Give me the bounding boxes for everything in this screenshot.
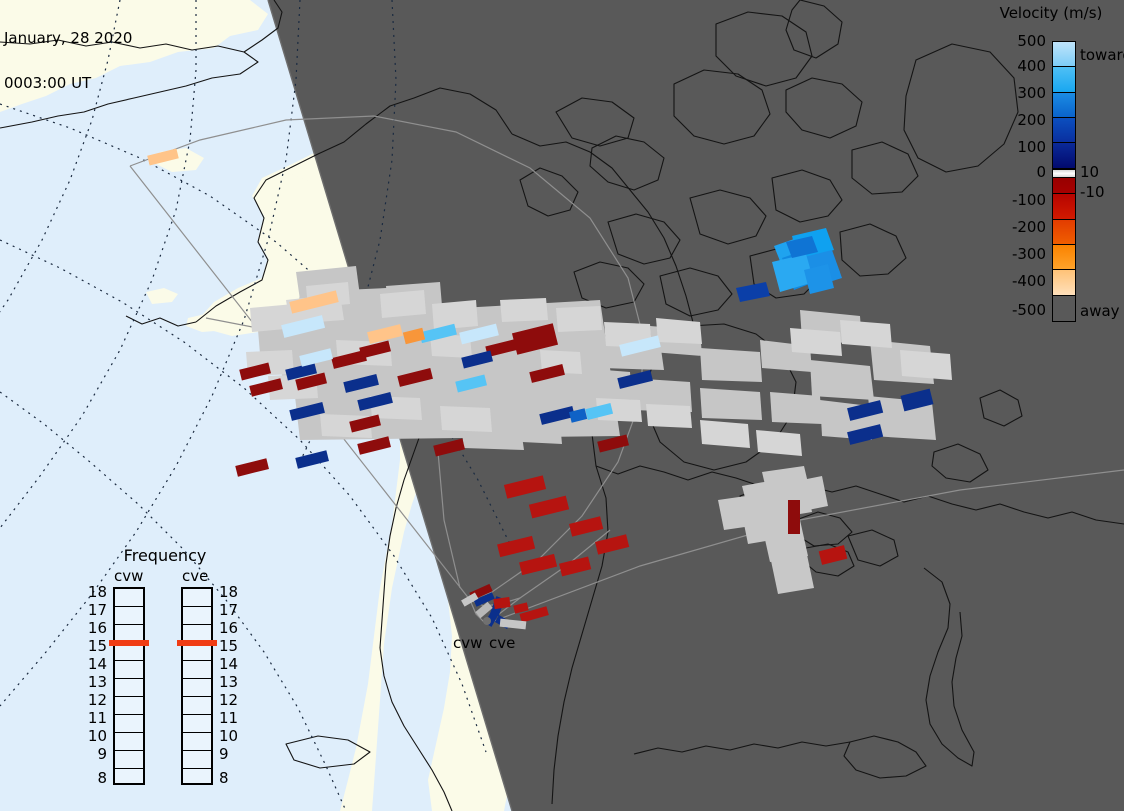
freq-tick-left-10: 10 (87, 727, 107, 745)
freq-tick-left-18: 18 (87, 583, 107, 601)
colorbar-band-200-300 (1053, 93, 1075, 118)
freq-cell (183, 751, 211, 769)
freq-cell (115, 607, 143, 625)
freq-tick-right-16: 16 (219, 619, 238, 637)
colorbar-tick-300: 300 (1017, 84, 1046, 102)
timestamp: January, 28 2020 0003:00 UT (4, 1, 132, 121)
colorbar-title: Velocity (m/s) (978, 4, 1124, 22)
freq-tick-right-8: 8 (219, 769, 229, 787)
colorbar-zero-band (1053, 169, 1075, 178)
colorbar-tick-400: 400 (1017, 57, 1046, 75)
freq-tick-right-10: 10 (219, 727, 238, 745)
freq-tick-left-16: 16 (87, 619, 107, 637)
freq-cell (115, 751, 143, 769)
frequency-bar-cve (181, 587, 213, 785)
frequency-bar-cvw (113, 587, 145, 785)
freq-tick-left-11: 11 (87, 709, 107, 727)
freq-cell (115, 679, 143, 697)
colorbar-label-toward: toward (1080, 46, 1124, 64)
colorbar-tick-500: 500 (1017, 32, 1046, 50)
colorbar-tick-neg200: -200 (1012, 218, 1046, 236)
station-label-cve: cve (489, 634, 515, 652)
colorbar-band-400-500 (1053, 42, 1075, 67)
freq-cell (115, 589, 143, 607)
hudson-bay-velocity-patch (736, 228, 842, 302)
freq-cell (115, 715, 143, 733)
colorbar-band-neg400-neg500 (1053, 270, 1075, 295)
freq-cell (183, 715, 211, 733)
colorbar-band-10-100 (1053, 143, 1075, 168)
freq-tick-right-9: 9 (219, 745, 229, 763)
colorbar-label-pos10: 10 (1080, 163, 1099, 181)
frequency-marker-cve (177, 640, 217, 646)
colorbar-tick-200: 200 (1017, 111, 1046, 129)
colorbar-tick-neg500: -500 (1012, 301, 1046, 319)
freq-tick-right-15: 15 (219, 637, 238, 655)
colorbar-tick-0: 0 (1036, 163, 1046, 181)
frequency-column-label-cve: cve (182, 567, 208, 585)
freq-cell (115, 733, 143, 751)
station-label-cvw: cvw (453, 634, 482, 652)
timestamp-date: January, 28 2020 (4, 31, 132, 46)
freq-tick-right-12: 12 (219, 691, 238, 709)
colorbar-tick-neg400: -400 (1012, 272, 1046, 290)
freq-tick-left-13: 13 (87, 673, 107, 691)
freq-cell (183, 697, 211, 715)
colorbar-band-neg200-neg300 (1053, 220, 1075, 245)
colorbar-band-neg100-neg200 (1053, 194, 1075, 219)
radar-map-canvas: January, 28 2020 0003:00 UT Velocity (m/… (0, 0, 1124, 811)
colorbar-tick-neg300: -300 (1012, 245, 1046, 263)
colorbar-gradient (1052, 41, 1076, 322)
timestamp-time: 0003:00 UT (4, 76, 132, 91)
freq-cell (183, 589, 211, 607)
freq-tick-left-8: 8 (87, 769, 107, 787)
colorbar-tick-100: 100 (1017, 138, 1046, 156)
colorbar-band-300-400 (1053, 67, 1075, 92)
radar-station-marker (483, 617, 491, 625)
freq-cell (183, 607, 211, 625)
freq-cell (115, 661, 143, 679)
colorbar-band-100-200 (1053, 118, 1075, 143)
freq-cell (183, 769, 211, 787)
frequency-legend-title: Frequency (85, 546, 245, 565)
colorbar-label-neg10: -10 (1080, 183, 1105, 201)
freq-tick-left-17: 17 (87, 601, 107, 619)
freq-tick-left-15: 15 (87, 637, 107, 655)
freq-cell (115, 697, 143, 715)
freq-tick-left-14: 14 (87, 655, 107, 673)
freq-tick-left-9: 9 (87, 745, 107, 763)
freq-tick-right-11: 11 (219, 709, 238, 727)
frequency-legend: Frequency cvw cve (85, 546, 245, 786)
backscatter-cells-east (718, 466, 828, 594)
velocity-colorbar: Velocity (m/s) 500 400 300 200 100 0 -10… (980, 0, 1124, 340)
colorbar-tick-neg100: -100 (1012, 191, 1046, 209)
freq-cell (183, 661, 211, 679)
frequency-marker-cvw (109, 640, 149, 646)
freq-tick-right-14: 14 (219, 655, 238, 673)
freq-tick-right-18: 18 (219, 583, 238, 601)
freq-tick-right-13: 13 (219, 673, 238, 691)
freq-tick-right-17: 17 (219, 601, 238, 619)
freq-cell (183, 679, 211, 697)
frequency-column-label-cvw: cvw (114, 567, 143, 585)
colorbar-band-neg300-neg400 (1053, 245, 1075, 270)
colorbar-label-away: away (1080, 302, 1120, 320)
freq-tick-left-12: 12 (87, 691, 107, 709)
freq-cell (183, 733, 211, 751)
freq-cell (115, 769, 143, 787)
